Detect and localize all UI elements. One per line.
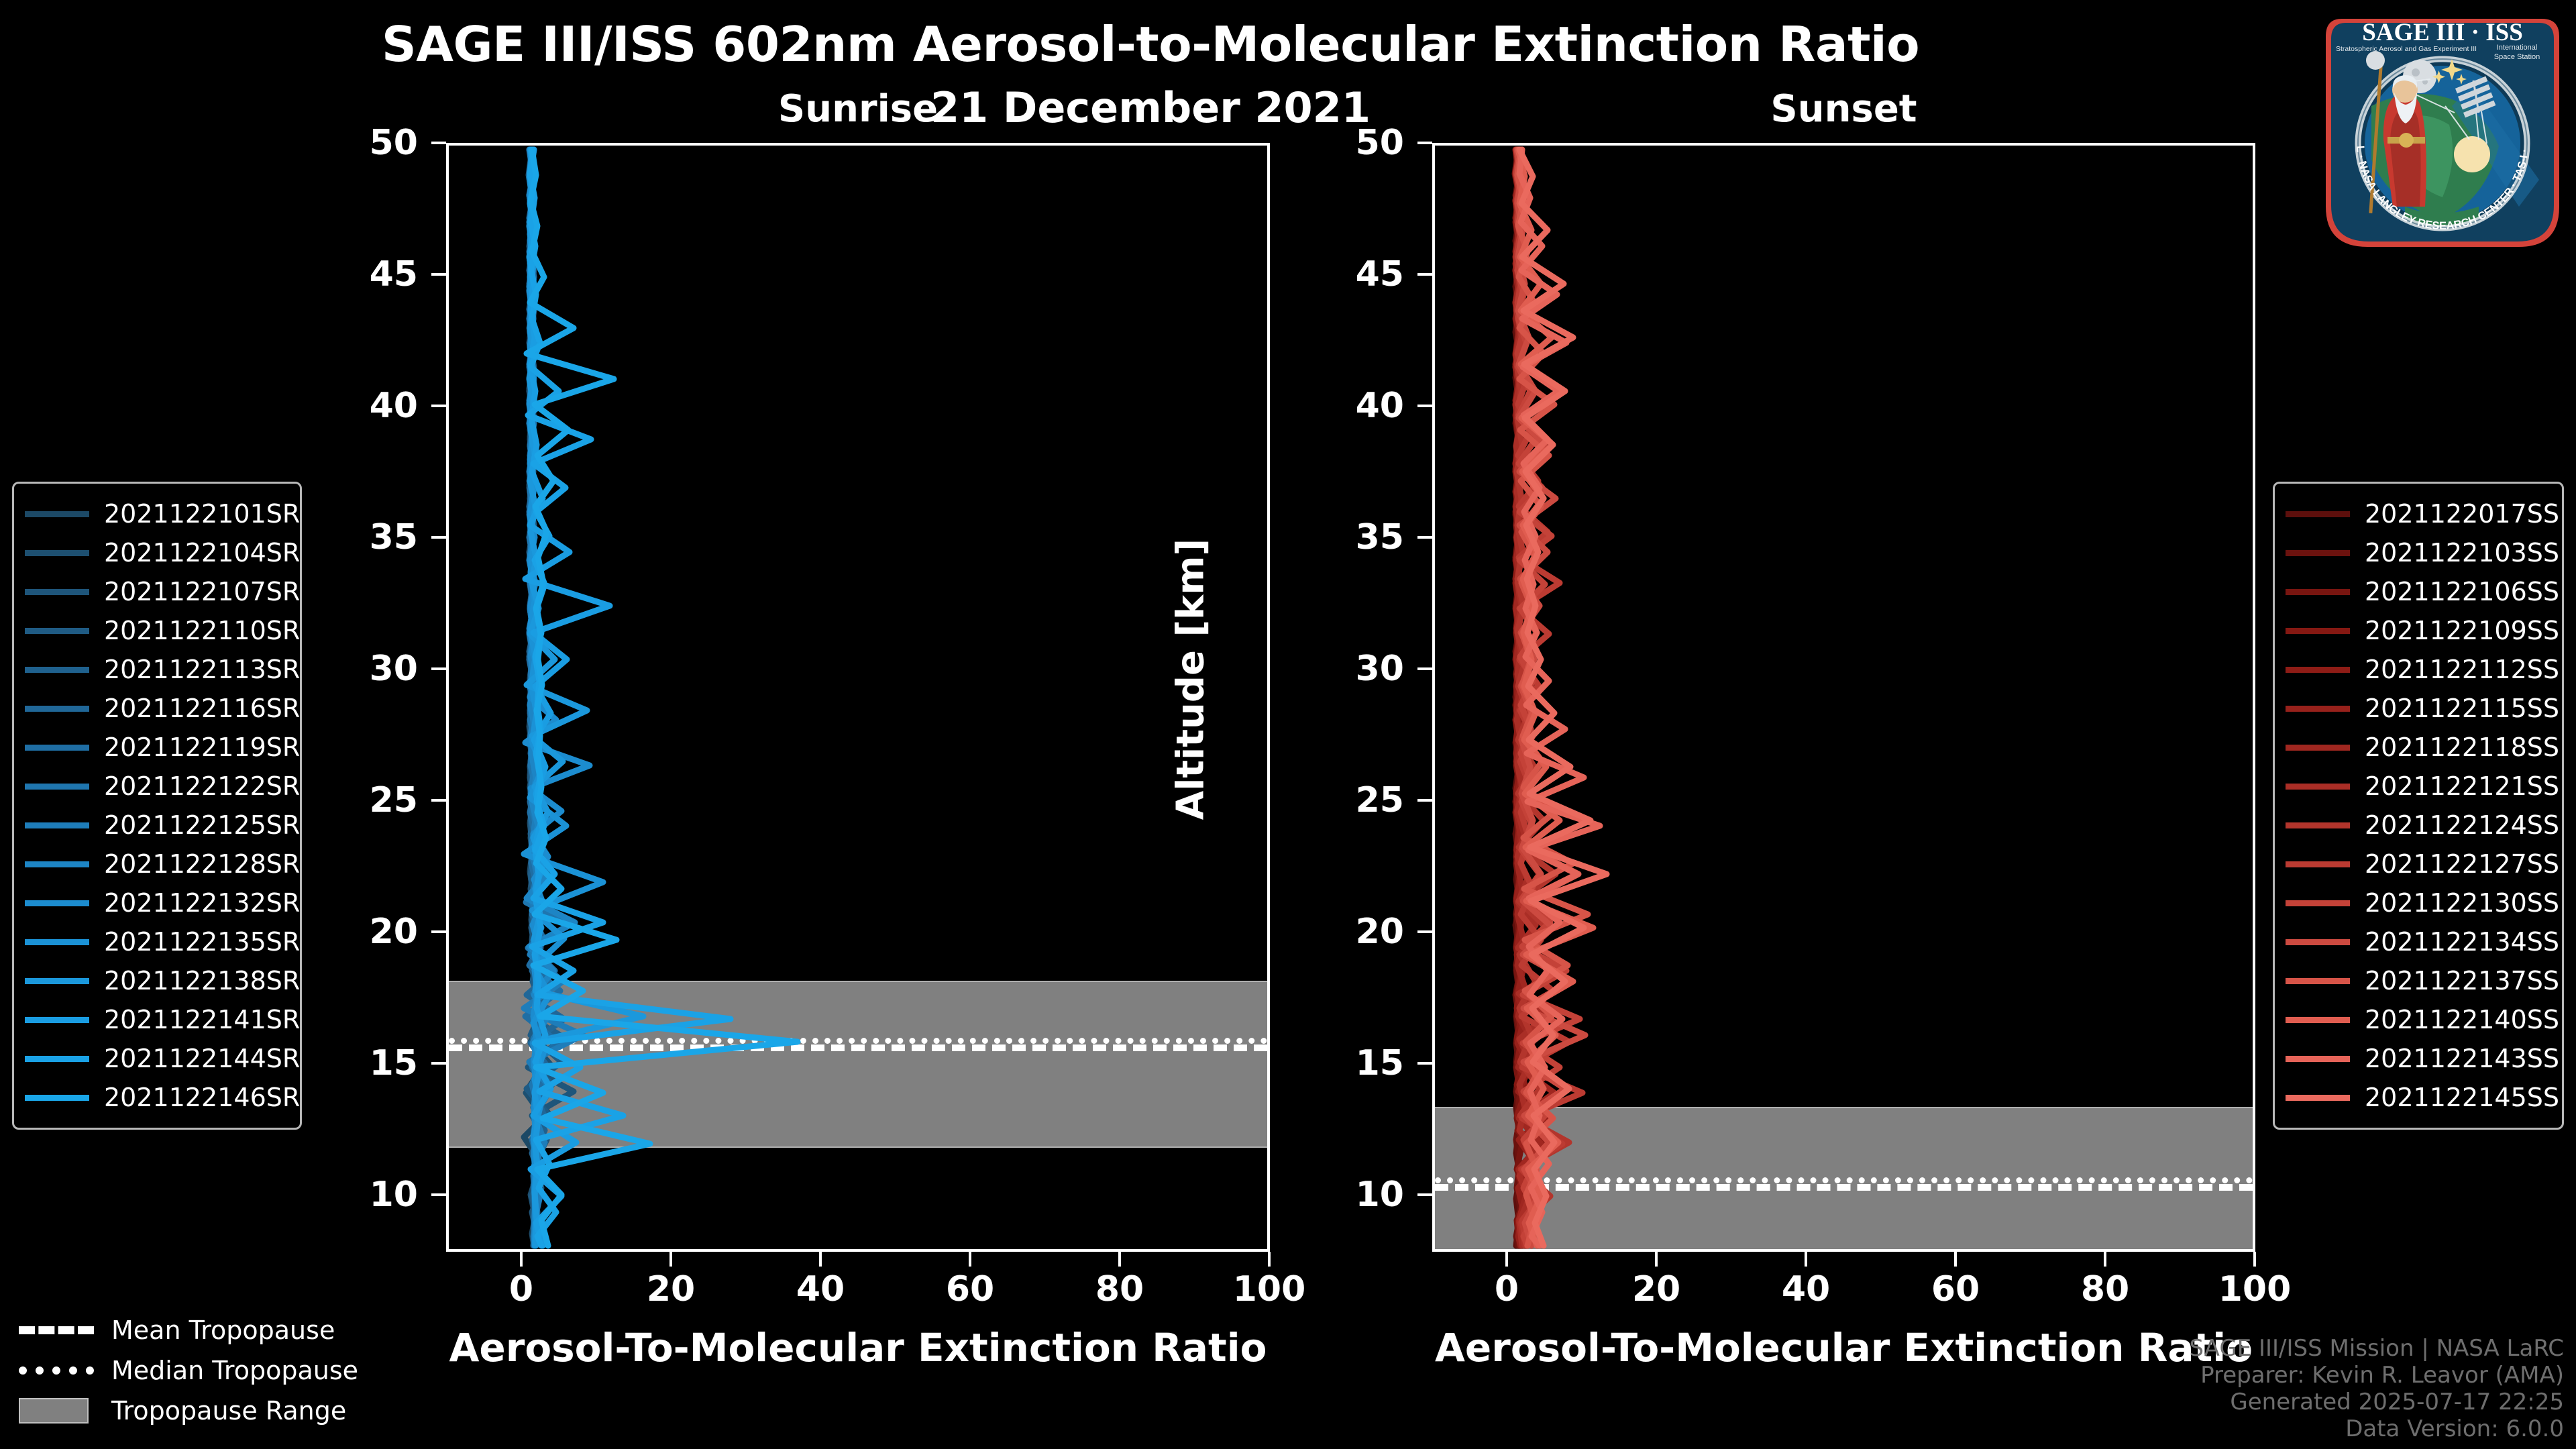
legend-item[interactable]: 2021122104SR <box>25 533 288 572</box>
x-tick-80-sunset: 80 <box>2081 1269 2129 1309</box>
legend-item-label: 2021122130SS <box>2365 888 2559 918</box>
x-tick-0-sunrise: 0 <box>509 1269 533 1309</box>
logo-subtitle-right-1: International <box>2497 44 2538 52</box>
y-tick-50-sunset: 50 <box>1283 123 1404 163</box>
legend-item[interactable]: 2021122106SS <box>2286 572 2550 611</box>
legend-color-swatch <box>2286 939 2350 945</box>
legend-item[interactable]: 2021122141SR <box>25 1000 288 1039</box>
y-tick-10-sunrise: 10 <box>297 1175 418 1215</box>
x-tick-60-sunset: 60 <box>1931 1269 1980 1309</box>
panel-title-sunrise: Sunrise <box>446 87 1270 131</box>
legend-item-label: 2021122143SS <box>2365 1044 2559 1073</box>
legend-color-swatch <box>25 1017 89 1023</box>
filled-band-icon <box>19 1398 94 1424</box>
legend-color-swatch <box>2286 511 2350 517</box>
legend-color-swatch <box>2286 784 2350 790</box>
legend-item-label: 2021122138SR <box>104 966 300 996</box>
legend-color-swatch <box>2286 550 2350 556</box>
tropopause-legend[interactable]: Mean Tropopause Median Tropopause Tropop… <box>19 1310 394 1431</box>
legend-item-label: 2021122146SR <box>104 1083 300 1112</box>
y-tick-30-sunset: 30 <box>1283 649 1404 689</box>
legend-item-label: 2021122110SR <box>104 616 300 645</box>
legend-item[interactable]: 2021122143SS <box>2286 1039 2550 1078</box>
legend-item-label: 2021122134SS <box>2365 927 2559 957</box>
legend-item-tropopause-range[interactable]: Tropopause Range <box>19 1391 394 1431</box>
legend-color-swatch <box>25 706 89 712</box>
x-tick-100-sunrise: 100 <box>1233 1269 1306 1309</box>
legend-item-label: 2021122104SR <box>104 538 300 568</box>
legend-color-swatch <box>25 745 89 751</box>
x-tick-100-sunset: 100 <box>2218 1269 2292 1309</box>
credit-preparer: Preparer: Kevin R. Leavor (AMA) <box>2189 1362 2564 1389</box>
legend-item[interactable]: 2021122107SR <box>25 572 288 611</box>
legend-item[interactable]: 2021122145SS <box>2286 1078 2550 1117</box>
profile-curves-sunset <box>1435 146 2253 1249</box>
legend-item[interactable]: 2021122118SS <box>2286 728 2550 767</box>
legend-item-label: Median Tropopause <box>111 1356 358 1385</box>
y-tick-45-sunrise: 45 <box>297 254 418 294</box>
legend-item[interactable]: 2021122116SR <box>25 689 288 728</box>
legend-item-label: 2021122103SS <box>2365 538 2559 568</box>
legend-item-label: 2021122135SR <box>104 927 300 957</box>
legend-item-label: 2021122141SR <box>104 1005 300 1034</box>
legend-item-label: 2021122132SR <box>104 888 300 918</box>
legend-color-swatch <box>2286 667 2350 673</box>
legend-item-label: 2021122115SS <box>2365 694 2559 723</box>
legend-item[interactable]: 2021122137SS <box>2286 961 2550 1000</box>
legend-item-label: 2021122144SR <box>104 1044 300 1073</box>
legend-item[interactable]: 2021122103SS <box>2286 533 2550 572</box>
x-tick-40-sunset: 40 <box>1782 1269 1830 1309</box>
legend-color-swatch <box>25 628 89 634</box>
logo-title: SAGE III · ISS <box>2362 19 2523 46</box>
legend-item[interactable]: 2021122135SR <box>25 922 288 961</box>
x-tick-20-sunrise: 20 <box>647 1269 695 1309</box>
legend-color-swatch <box>25 550 89 556</box>
x-tick-40-sunrise: 40 <box>796 1269 845 1309</box>
legend-item-mean-tropopause[interactable]: Mean Tropopause <box>19 1310 394 1350</box>
legend-color-swatch <box>2286 900 2350 906</box>
y-tick-45-sunset: 45 <box>1283 254 1404 294</box>
legend-item[interactable]: 2021122122SR <box>25 767 288 806</box>
x-axis-title-sunrise: Aerosol-To-Molecular Extinction Ratio <box>446 1325 1270 1371</box>
legend-color-swatch <box>25 1056 89 1062</box>
legend-item[interactable]: 2021122113SR <box>25 650 288 689</box>
legend-color-swatch <box>2286 706 2350 712</box>
x-tick-20-sunset: 20 <box>1632 1269 1680 1309</box>
legend-item[interactable]: 2021122134SS <box>2286 922 2550 961</box>
plot-panel-sunset[interactable] <box>1432 143 2255 1252</box>
x-axis-title-sunset: Aerosol-To-Molecular Extinction Ratio <box>1432 1325 2255 1371</box>
legend-item-median-tropopause[interactable]: Median Tropopause <box>19 1350 394 1391</box>
legend-color-swatch <box>25 822 89 828</box>
legend-color-swatch <box>25 978 89 984</box>
x-tick-60-sunrise: 60 <box>946 1269 994 1309</box>
legend-color-swatch <box>25 861 89 867</box>
legend-item[interactable]: 2021122124SS <box>2286 806 2550 845</box>
x-tick-0-sunset: 0 <box>1495 1269 1519 1309</box>
credit-mission: SAGE III/ISS Mission | NASA LaRC <box>2189 1335 2564 1362</box>
y-tick-20-sunset: 20 <box>1283 912 1404 952</box>
y-tick-35-sunset: 35 <box>1283 517 1404 557</box>
y-tick-25-sunrise: 25 <box>297 780 418 820</box>
legend-color-swatch <box>2286 978 2350 984</box>
legend-item-label: 2021122122SR <box>104 771 300 801</box>
y-tick-40-sunrise: 40 <box>297 386 418 426</box>
legend-color-swatch <box>2286 628 2350 634</box>
legend-item[interactable]: 2021122112SS <box>2286 650 2550 689</box>
legend-item-label: 2021122124SS <box>2365 810 2559 840</box>
legend-item-label: 2021122017SS <box>2365 499 2559 529</box>
y-tick-35-sunrise: 35 <box>297 517 418 557</box>
logo-subtitle-left: Stratospheric Aerosol and Gas Experiment… <box>2336 45 2477 53</box>
legend-sunrise[interactable]: 2021122101SR 2021122104SR 2021122107SR 2… <box>12 482 302 1130</box>
legend-color-swatch <box>25 667 89 673</box>
x-tick-80-sunrise: 80 <box>1095 1269 1144 1309</box>
legend-item[interactable]: 2021122101SR <box>25 494 288 533</box>
page-title: SAGE III/ISS 602nm Aerosol-to-Molecular … <box>0 16 2301 72</box>
legend-color-swatch <box>2286 822 2350 828</box>
figure-canvas: SAGE III/ISS 602nm Aerosol-to-Molecular … <box>0 0 2576 1449</box>
legend-color-swatch <box>2286 589 2350 595</box>
credits-block: SAGE III/ISS Mission | NASA LaRC Prepare… <box>2189 1335 2564 1442</box>
legend-color-swatch <box>25 511 89 517</box>
legend-sunset[interactable]: 2021122017SS 2021122103SS 2021122106SS 2… <box>2273 482 2564 1130</box>
legend-item[interactable]: 2021122128SR <box>25 845 288 883</box>
legend-color-swatch <box>25 1095 89 1101</box>
legend-color-swatch <box>25 900 89 906</box>
legend-item[interactable]: 2021122144SR <box>25 1039 288 1078</box>
legend-color-swatch <box>2286 1056 2350 1062</box>
legend-item-label: 2021122112SS <box>2365 655 2559 684</box>
legend-item[interactable]: 2021122121SS <box>2286 767 2550 806</box>
legend-item-label: 2021122107SR <box>104 577 300 606</box>
legend-item[interactable]: 2021122130SS <box>2286 883 2550 922</box>
legend-item-label: 2021122101SR <box>104 499 300 529</box>
legend-item[interactable]: 2021122138SR <box>25 961 288 1000</box>
legend-item-label: 2021122145SS <box>2365 1083 2559 1112</box>
legend-item[interactable]: 2021122125SR <box>25 806 288 845</box>
profile-curves-sunrise <box>449 146 1267 1249</box>
legend-item-label: 2021122106SS <box>2365 577 2559 606</box>
legend-color-swatch <box>2286 861 2350 867</box>
legend-item-label: 2021122127SS <box>2365 849 2559 879</box>
legend-item[interactable]: 2021122132SR <box>25 883 288 922</box>
legend-item-label: Mean Tropopause <box>111 1316 335 1345</box>
legend-item-label: 2021122125SR <box>104 810 300 840</box>
panel-title-sunset: Sunset <box>1432 87 2255 131</box>
logo-subtitle-right-2: Space Station <box>2494 53 2540 61</box>
credit-data-version: Data Version: 6.0.0 <box>2189 1415 2564 1442</box>
legend-color-swatch <box>25 939 89 945</box>
legend-item[interactable]: 2021122127SS <box>2286 845 2550 883</box>
legend-item[interactable]: 2021122119SR <box>25 728 288 767</box>
legend-item-label: 2021122113SR <box>104 655 300 684</box>
y-tick-30-sunrise: 30 <box>297 649 418 689</box>
y-tick-20-sunrise: 20 <box>297 912 418 952</box>
legend-item-label: 2021122137SS <box>2365 966 2559 996</box>
dotted-line-icon <box>19 1366 94 1375</box>
legend-item[interactable]: 2021122110SR <box>25 611 288 650</box>
plot-panel-sunrise[interactable] <box>446 143 1270 1252</box>
plot-area-sunset <box>1435 146 2253 1249</box>
legend-item-label: 2021122119SR <box>104 733 300 762</box>
legend-color-swatch <box>25 784 89 790</box>
dashed-line-icon <box>19 1326 94 1334</box>
legend-item-label: 2021122140SS <box>2365 1005 2559 1034</box>
y-tick-50-sunrise: 50 <box>297 123 418 163</box>
y-tick-15-sunrise: 15 <box>297 1043 418 1083</box>
legend-item-label: 2021122128SR <box>104 849 300 879</box>
legend-item-label: 2021122121SS <box>2365 771 2559 801</box>
legend-item-label: 2021122109SS <box>2365 616 2559 645</box>
y-tick-10-sunset: 10 <box>1283 1175 1404 1215</box>
legend-item-label: 2021122116SR <box>104 694 300 723</box>
legend-color-swatch <box>2286 1017 2350 1023</box>
legend-item[interactable]: 2021122146SR <box>25 1078 288 1117</box>
legend-item[interactable]: 2021122115SS <box>2286 689 2550 728</box>
legend-item-label: Tropopause Range <box>111 1396 346 1426</box>
legend-item[interactable]: 2021122017SS <box>2286 494 2550 533</box>
y-tick-40-sunset: 40 <box>1283 386 1404 426</box>
legend-color-swatch <box>2286 1095 2350 1101</box>
y-tick-15-sunset: 15 <box>1283 1043 1404 1083</box>
plot-area-sunrise <box>449 146 1267 1249</box>
legend-item[interactable]: 2021122140SS <box>2286 1000 2550 1039</box>
legend-item-label: 2021122118SS <box>2365 733 2559 762</box>
sage-iii-iss-mission-patch-logo: SAGE III · ISS Stratospheric Aerosol and… <box>2318 5 2567 255</box>
y-tick-25-sunset: 25 <box>1283 780 1404 820</box>
credit-generated: Generated 2025-07-17 22:25 <box>2189 1389 2564 1415</box>
legend-color-swatch <box>25 589 89 595</box>
legend-color-swatch <box>2286 745 2350 751</box>
legend-item[interactable]: 2021122109SS <box>2286 611 2550 650</box>
y-axis-title-sunset: Altitude [km] <box>1169 445 1213 914</box>
